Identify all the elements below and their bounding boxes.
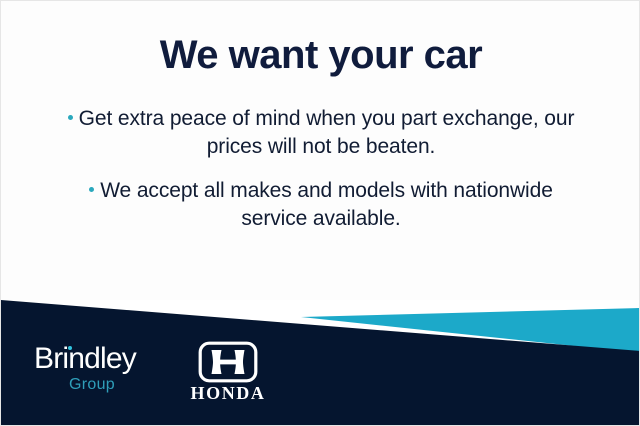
content-area: We want your car Get extra peace of mind… <box>1 1 640 300</box>
advert-card: We want your car Get extra peace of mind… <box>0 0 640 426</box>
list-item: Get extra peace of mind when you part ex… <box>61 105 581 161</box>
list-item: We accept all makes and models with nati… <box>61 177 581 233</box>
bullet-dot-icon <box>68 115 73 120</box>
list-item-label: We accept all makes and models with nati… <box>100 179 553 230</box>
honda-logo: HONDA <box>173 341 283 405</box>
brindley-subtitle: Group <box>69 375 115 395</box>
teal-wedge-shape <box>301 308 640 353</box>
brindley-idot-icon <box>68 346 72 350</box>
page-title: We want your car <box>1 29 640 81</box>
honda-wordmark: HONDA <box>173 383 283 403</box>
brindley-wordmark: Brindley <box>34 342 136 376</box>
honda-h-emblem-icon <box>198 341 258 388</box>
list-item-label: Get extra peace of mind when you part ex… <box>79 107 575 158</box>
brindley-group-logo: Brindley Group <box>34 342 159 404</box>
bullet-dot-icon <box>89 187 94 192</box>
